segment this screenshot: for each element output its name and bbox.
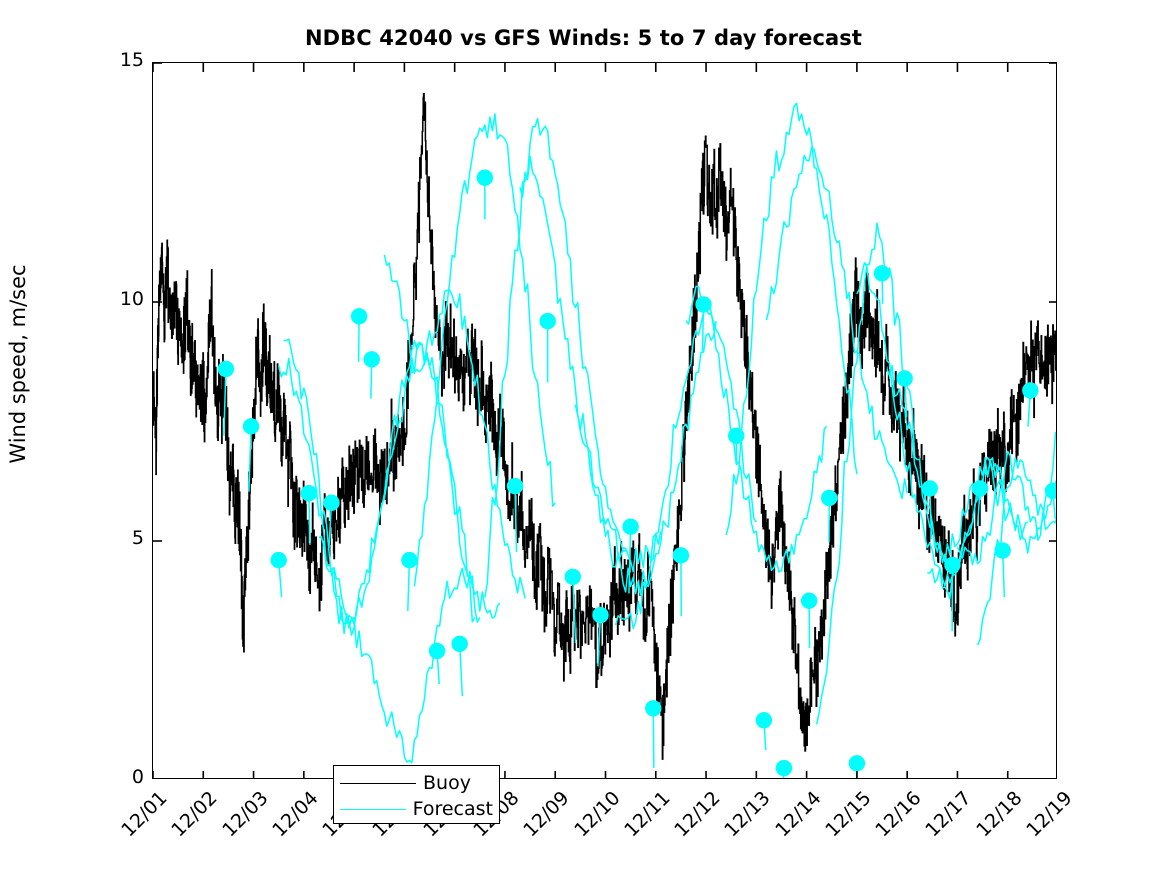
legend-label-forecast: Forecast [413, 800, 493, 819]
plot-canvas [153, 63, 1056, 778]
legend: Buoy Forecast [333, 765, 500, 824]
legend-label-buoy: Buoy [423, 774, 471, 793]
x-tick-label: 12/12 [664, 787, 725, 848]
x-tick-label: 12/16 [865, 787, 926, 848]
plot-area: Buoy Forecast [152, 62, 1057, 779]
x-tick-label: 12/15 [815, 787, 876, 848]
x-tick-label: 12/17 [915, 787, 976, 848]
x-tick-label: 12/13 [714, 787, 775, 848]
legend-item-forecast: Forecast [340, 796, 493, 822]
chart-title: NDBC 42040 vs GFS Winds: 5 to 7 day fore… [0, 26, 1167, 50]
axis-tick-marks [153, 63, 1056, 778]
y-tick-label: 0 [100, 766, 144, 788]
x-tick-label: 12/02 [161, 787, 222, 848]
x-tick-label: 12/10 [563, 787, 624, 848]
y-tick-label: 15 [100, 49, 144, 71]
legend-swatch-forecast [340, 809, 406, 810]
legend-item-buoy: Buoy [340, 770, 493, 796]
x-tick-label: 12/09 [513, 787, 574, 848]
x-tick-label: 12/19 [1016, 787, 1077, 848]
x-tick-label: 12/04 [262, 787, 323, 848]
x-tick-label: 12/03 [211, 787, 272, 848]
x-tick-label: 12/18 [965, 787, 1026, 848]
x-tick-label: 12/01 [111, 787, 172, 848]
y-tick-label: 10 [100, 288, 144, 310]
figure: NDBC 42040 vs GFS Winds: 5 to 7 day fore… [0, 0, 1167, 875]
y-axis-label: Wind speed, m/sec [6, 104, 30, 624]
x-tick-label: 12/14 [764, 787, 825, 848]
y-tick-label: 5 [100, 527, 144, 549]
x-tick-label: 12/11 [614, 787, 675, 848]
legend-swatch-buoy [340, 783, 416, 784]
